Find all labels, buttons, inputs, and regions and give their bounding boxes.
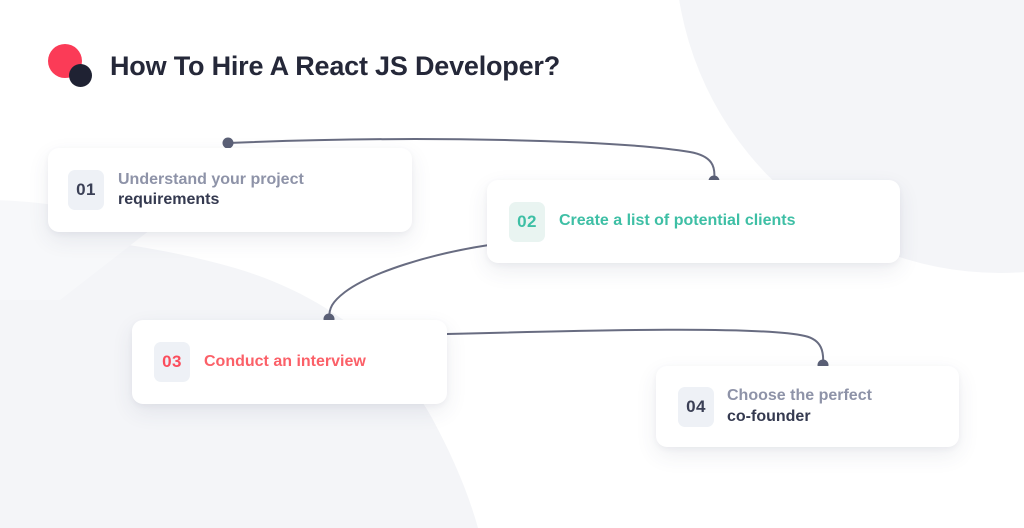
connector-03-to-04 [447,330,823,365]
connector-02-to-03 [329,245,489,319]
step-card-01[interactable]: 01 Understand your project requirements [48,148,412,232]
step-card-03[interactable]: 03 Conduct an interview [132,320,447,404]
connector-dot-01 [223,138,234,149]
step-card-02[interactable]: 02 Create a list of potential clients [487,180,900,263]
step-label-04-line-1: Choose the perfect [727,386,872,406]
brand-logo [48,40,96,92]
infographic-canvas: How To Hire A React JS Developer? 01 Und… [0,0,1024,528]
step-number-badge-04: 04 [678,387,714,427]
page-header: How To Hire A React JS Developer? [48,40,560,92]
step-card-04[interactable]: 04 Choose the perfect co-founder [656,366,959,447]
brand-circle-dark-icon [69,64,92,87]
step-label-04-line-2: co-founder [727,407,872,427]
step-label-01-line-1: Understand your project [118,170,304,190]
step-number-badge-02: 02 [509,202,545,242]
step-label-01: Understand your project requirements [118,170,304,211]
step-label-01-line-2: requirements [118,190,304,210]
step-label-02: Create a list of potential clients [559,211,796,231]
step-number-badge-01: 01 [68,170,104,210]
step-label-04: Choose the perfect co-founder [727,386,872,427]
page-title: How To Hire A React JS Developer? [110,53,560,80]
step-label-03: Conduct an interview [204,352,366,372]
step-number-badge-03: 03 [154,342,190,382]
